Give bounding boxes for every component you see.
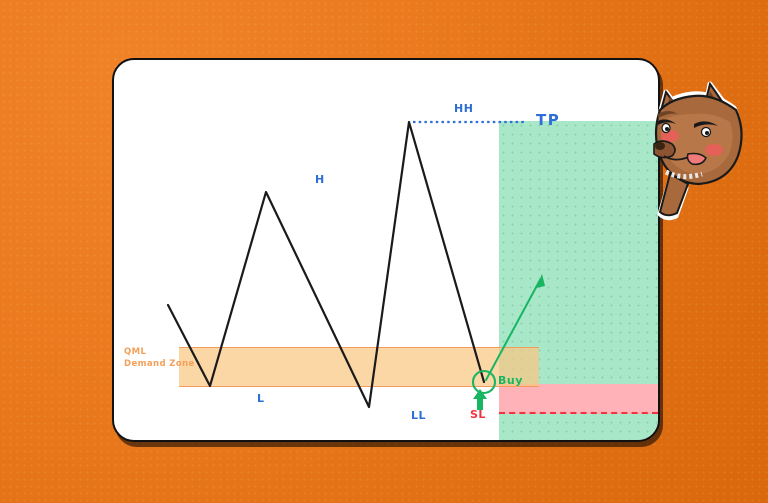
label-ll: LL xyxy=(411,409,426,422)
label-qml-demand-zone: QML Demand Zone xyxy=(124,346,195,370)
buy-direction-arrow-line xyxy=(486,280,540,380)
label-l: L xyxy=(257,392,265,405)
price-action-chart xyxy=(114,60,658,440)
label-buy: Buy xyxy=(498,374,523,387)
label-h: H xyxy=(315,173,325,186)
label-tp: TP xyxy=(536,111,560,129)
dog-mascot xyxy=(652,62,768,222)
chart-card: HH H L LL TP Buy SL QML Demand Zone xyxy=(112,58,660,442)
qml-line-2: Demand Zone xyxy=(124,358,195,370)
buy-direction-arrow-head xyxy=(536,274,545,288)
price-line xyxy=(168,122,484,407)
label-hh: HH xyxy=(454,102,473,115)
qml-line-1: QML xyxy=(124,346,195,358)
label-sl: SL xyxy=(470,408,486,421)
